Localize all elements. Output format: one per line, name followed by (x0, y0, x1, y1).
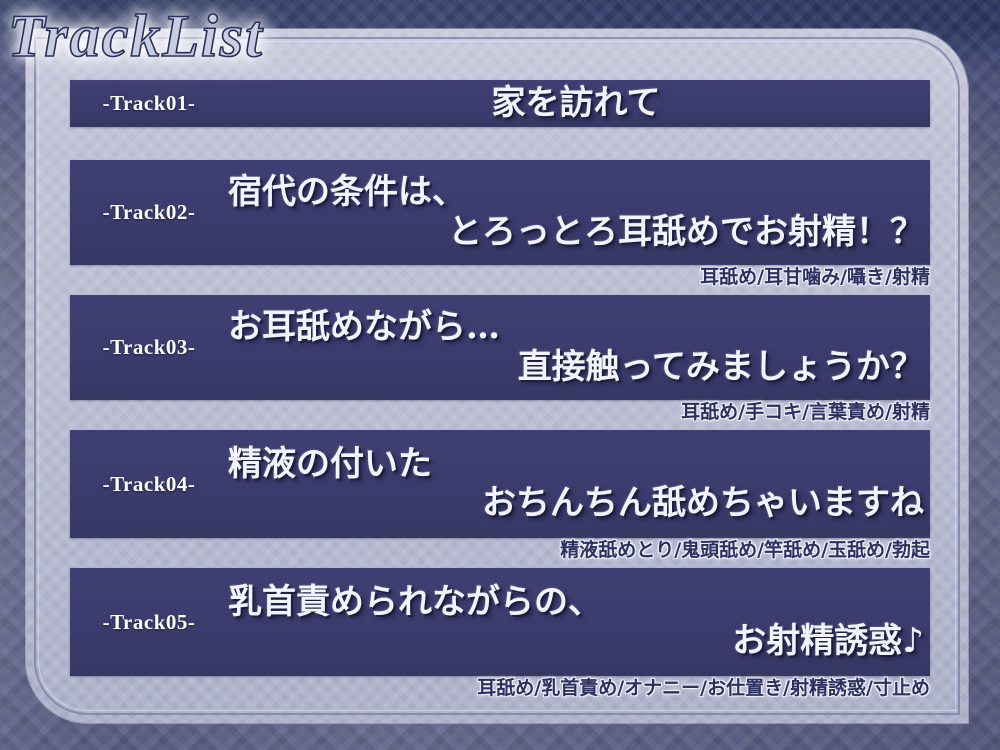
track-title-line: お射精誘惑♪ (228, 622, 924, 661)
track-bar[interactable]: -Track02-宿代の条件は、とろっとろ耳舐めでお射精！？ (70, 160, 930, 265)
track-number: -Track04- (70, 472, 228, 497)
track-row[interactable]: -Track05-乳首責められながらの、お射精誘惑♪ (70, 568, 930, 676)
track-tags: 耳舐め/乳首責め/オナニー/お仕置き/射精誘惑/寸止め (477, 673, 930, 700)
track-bar[interactable]: -Track01-家を訪れて (70, 80, 930, 127)
track-title-line: 家を訪れて (492, 84, 661, 123)
track-title: 乳首責められながらの、お射精誘惑♪ (228, 583, 930, 662)
track-number: -Track05- (70, 610, 228, 635)
track-row[interactable]: -Track02-宿代の条件は、とろっとろ耳舐めでお射精！？ (70, 160, 930, 265)
track-bar[interactable]: -Track03-お耳舐めながら…直接触ってみましょうか？ (70, 295, 930, 400)
track-number: -Track03- (70, 335, 228, 360)
track-title-line: とろっとろ耳舐めでお射精！？ (228, 213, 924, 252)
track-title: お耳舐めながら…直接触ってみましょうか？ (228, 308, 930, 387)
track-row[interactable]: -Track03-お耳舐めながら…直接触ってみましょうか？ (70, 295, 930, 400)
track-tags: 耳舐め/耳甘噛み/囁き/射精 (700, 262, 930, 289)
page-title: TrackList (8, 6, 264, 66)
track-title-line: 精液の付いた (228, 445, 924, 484)
track-title-line: お耳舐めながら… (228, 308, 924, 347)
track-number: -Track01- (70, 91, 228, 116)
track-bar[interactable]: -Track04-精液の付いたおちんちん舐めちゃいますね (70, 430, 930, 538)
track-row[interactable]: -Track04-精液の付いたおちんちん舐めちゃいますね (70, 430, 930, 538)
track-title: 家を訪れて (228, 84, 930, 123)
track-tags: 耳舐め/手コキ/言葉責め/射精 (681, 397, 930, 424)
track-tags: 精液舐めとり/鬼頭舐め/竿舐め/玉舐め/勃起 (560, 535, 930, 562)
track-title-line: おちんちん舐めちゃいますね (228, 484, 924, 523)
track-title-line: 宿代の条件は、 (228, 173, 924, 212)
track-bar[interactable]: -Track05-乳首責められながらの、お射精誘惑♪ (70, 568, 930, 676)
track-number: -Track02- (70, 200, 228, 225)
track-title: 精液の付いたおちんちん舐めちゃいますね (228, 445, 930, 524)
track-list: -Track01-家を訪れて-Track02-宿代の条件は、とろっとろ耳舐めでお… (0, 0, 1000, 750)
track-row[interactable]: -Track01-家を訪れて (70, 80, 930, 127)
track-title-line: 直接触ってみましょうか？ (228, 348, 924, 387)
track-title: 宿代の条件は、とろっとろ耳舐めでお射精！？ (228, 173, 930, 252)
track-title-line: 乳首責められながらの、 (228, 583, 924, 622)
tracklist-page: TrackList -Track01-家を訪れて-Track02-宿代の条件は、… (0, 0, 1000, 750)
